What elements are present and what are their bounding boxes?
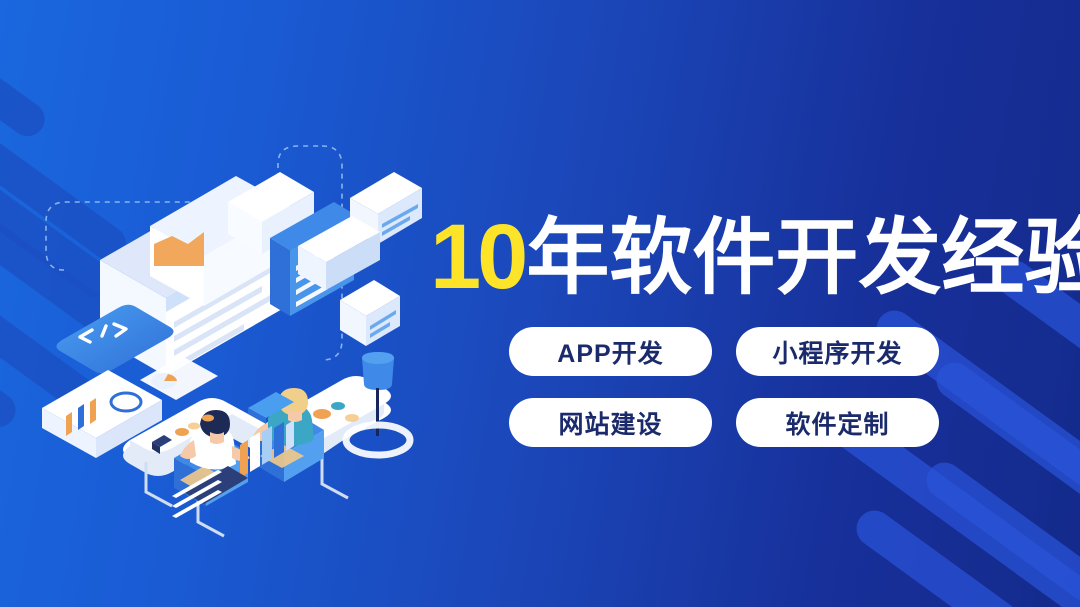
service-pill-miniprogram[interactable]: 小程序开发 bbox=[736, 327, 939, 376]
promo-banner: 10年软件开发经验 APP开发 小程序开发 网站建设 软件定制 bbox=[0, 0, 1080, 607]
decorative-stripe bbox=[0, 259, 22, 433]
isometric-developer-workspace-illustration bbox=[22, 140, 442, 540]
service-pill-app[interactable]: APP开发 bbox=[509, 327, 712, 376]
service-pill-row: 网站建设 软件定制 bbox=[509, 398, 939, 447]
headline-text: 年软件开发经验 bbox=[526, 216, 1080, 299]
decorative-stripe bbox=[919, 455, 1080, 607]
floating-text-card bbox=[340, 280, 400, 346]
service-pill-group: APP开发 小程序开发 网站建设 软件定制 bbox=[509, 327, 939, 469]
chart-bar bbox=[66, 412, 72, 436]
chart-bar bbox=[78, 404, 84, 430]
decorative-stripe bbox=[929, 355, 1080, 525]
decorative-stripe bbox=[0, 27, 51, 143]
service-pill-website[interactable]: 网站建设 bbox=[509, 398, 712, 447]
headline-number: 10 bbox=[430, 211, 524, 303]
chart-bar bbox=[90, 398, 96, 424]
service-pill-row: APP开发 小程序开发 bbox=[509, 327, 939, 376]
decorative-stripe bbox=[849, 503, 1080, 607]
service-pill-custom-software[interactable]: 软件定制 bbox=[736, 398, 939, 447]
page-title: 10年软件开发经验 bbox=[430, 209, 1080, 305]
